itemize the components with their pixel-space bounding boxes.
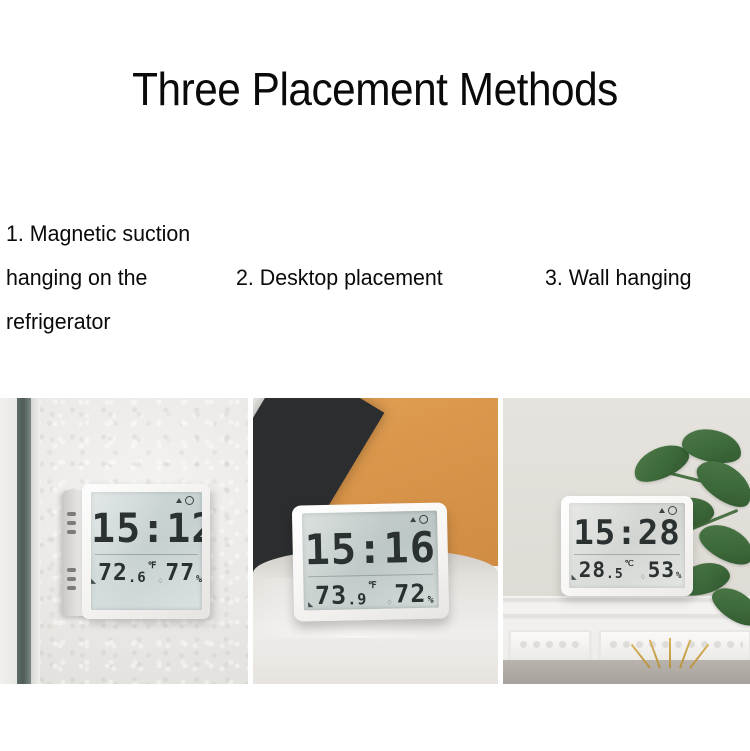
caption-wall: 3. Wall hanging: [545, 256, 692, 300]
lcd-time: 15:16: [302, 527, 438, 572]
scroll-ornament: [517, 640, 583, 649]
gold-arc: [689, 644, 709, 669]
caption-desktop: 2. Desktop placement: [236, 256, 443, 300]
bell-icon: [176, 498, 182, 503]
product-infographic: Three Placement Methods 1. Magnetic suct…: [0, 0, 750, 751]
humidity-value: 53: [648, 560, 675, 581]
gold-arc: [631, 644, 651, 669]
side-button[interactable]: [67, 530, 76, 534]
side-button[interactable]: [67, 586, 76, 590]
temperature-whole: 72: [98, 562, 128, 585]
temperature-unit: ℃: [625, 560, 635, 568]
lcd-humidity: ♢ 72 %: [386, 581, 435, 607]
alarm-clock-icon: [185, 496, 194, 505]
temperature-decimal: .6: [128, 571, 147, 585]
lcd-temperature: ◣ 28 .5 ℃: [572, 560, 635, 581]
side-button[interactable]: [67, 577, 76, 581]
temperature-decimal: .5: [606, 568, 624, 581]
lcd-temperature: ◣ 73 .9 ℉: [308, 582, 378, 608]
lcd-screen: 15:16 ◣ 73 .9 ℉ ♢ 72: [302, 511, 439, 611]
photo-panel-wall: 15:28 ◣ 28 .5 ℃ ♢ 53: [503, 398, 750, 684]
lcd-screen: 15:12 ◣ 72 .6 ℉ ♢ 77: [91, 492, 202, 610]
fridge-edge-shadow: [17, 398, 31, 684]
lcd-temperature: ◣ 72 .6 ℉: [91, 562, 157, 585]
gold-arc: [649, 639, 661, 668]
photo-panel-magnetic: 15:12 ◣ 72 .6 ℉ ♢ 77: [0, 398, 248, 684]
thermometer-icon: ◣: [91, 577, 96, 585]
side-button[interactable]: [67, 568, 76, 572]
lcd-screen: 15:28 ◣ 28 .5 ℃ ♢ 53: [569, 503, 685, 588]
device-desktop: 15:16 ◣ 73 .9 ℉ ♢ 72: [292, 502, 449, 621]
humidity-unit: %: [196, 575, 202, 585]
side-button[interactable]: [67, 521, 76, 525]
temperature-unit: ℉: [148, 562, 158, 571]
device-body: 15:12 ◣ 72 .6 ℉ ♢ 77: [82, 484, 210, 619]
photo-strip: 15:12 ◣ 72 .6 ℉ ♢ 77: [0, 398, 750, 684]
lcd-humidity: ♢ 77 %: [157, 562, 202, 585]
lcd-divider: [95, 554, 197, 555]
gold-decor-object: [623, 634, 719, 668]
gold-arc: [679, 639, 691, 668]
humidity-value: 72: [394, 581, 427, 607]
droplet-icon: ♢: [640, 573, 646, 581]
humidity-unit: %: [676, 572, 682, 581]
lcd-divider: [574, 554, 681, 555]
temperature-whole: 73: [315, 582, 348, 608]
photo-panel-desktop: 15:16 ◣ 73 .9 ℉ ♢ 72: [253, 398, 498, 684]
thermometer-icon: ◣: [308, 600, 313, 608]
lcd-divider: [309, 574, 433, 578]
side-button[interactable]: [67, 512, 76, 516]
page-title: Three Placement Methods: [30, 62, 720, 116]
caption-magnetic: 1. Magnetic suction hanging on the refri…: [6, 212, 226, 344]
device-body: 15:16 ◣ 73 .9 ℉ ♢ 72: [292, 502, 449, 621]
temperature-decimal: .9: [347, 592, 367, 607]
lcd-indicators: [176, 496, 194, 505]
fridge-edge-highlight: [31, 398, 40, 684]
temperature-whole: 28: [579, 560, 606, 581]
bell-icon: [410, 517, 416, 522]
humidity-value: 77: [165, 562, 195, 585]
temperature-unit: ℉: [368, 582, 378, 591]
thermometer-icon: ◣: [572, 573, 577, 581]
humidity-unit: %: [427, 596, 434, 606]
device-magnetic: 15:12 ◣ 72 .6 ℉ ♢ 77: [62, 484, 210, 619]
device-wall: 15:28 ◣ 28 .5 ℃ ♢ 53: [561, 496, 693, 596]
fridge-edge-white: [0, 398, 17, 684]
droplet-icon: ♢: [157, 577, 163, 585]
device-body: 15:28 ◣ 28 .5 ℃ ♢ 53: [561, 496, 693, 596]
droplet-icon: ♢: [386, 599, 392, 607]
lcd-time: 15:12: [91, 509, 202, 549]
lcd-time: 15:28: [569, 516, 685, 550]
gold-arc: [669, 638, 671, 668]
lcd-humidity: ♢ 53 %: [640, 560, 683, 581]
wainscot-panel: [509, 630, 591, 662]
